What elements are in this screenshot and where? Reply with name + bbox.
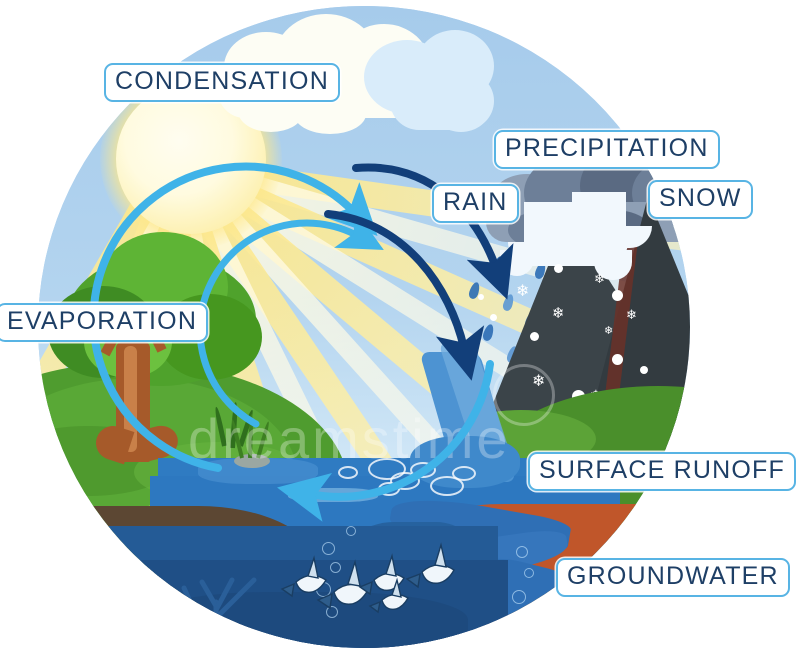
- label-evaporation[interactable]: EVAPORATION: [0, 303, 208, 342]
- label-surface-runoff[interactable]: SURFACE RUNOFF: [528, 452, 796, 491]
- label-snow[interactable]: SNOW: [648, 180, 753, 219]
- water-cycle-diagram: ❄ ❄ ❄ ❄ ❄ ❄ ❄ ❄: [0, 0, 800, 655]
- label-precipitation[interactable]: PRECIPITATION: [494, 130, 720, 169]
- evaporation-arrow-inner: [200, 223, 358, 424]
- label-groundwater[interactable]: GROUNDWATER: [556, 558, 790, 597]
- evaporation-arrow-outer-lower: [310, 364, 490, 497]
- label-condensation[interactable]: CONDENSATION: [104, 63, 340, 102]
- label-rain[interactable]: RAIN: [432, 184, 519, 223]
